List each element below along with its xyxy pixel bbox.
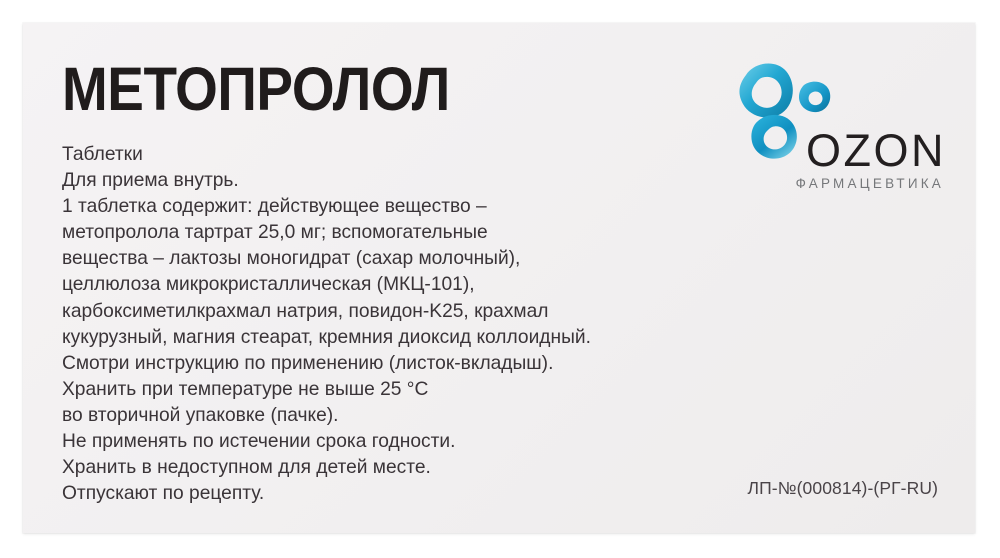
description-line: Хранить в недоступном для детей месте.	[62, 455, 742, 481]
description-line: кукурузный, магния стеарат, кремния диок…	[62, 325, 742, 351]
description-line: вещества – лактозы моногидрат (сахар мол…	[62, 246, 742, 272]
description-line: Хранить при температуре не выше 25 °C	[62, 377, 742, 403]
description-line: карбоксиметилкрахмал натрия, повидон-K25…	[62, 299, 742, 325]
ozon-logo: OZON ФАРМАЦЕВТИКА	[728, 55, 943, 190]
description-line: целлюлоза микрокристаллическая (МКЦ-101)…	[62, 272, 742, 298]
registration-number: ЛП-№(000814)-(РГ-RU)	[748, 478, 938, 499]
medicine-package-card: МЕТОПРОЛОЛ	[23, 23, 975, 533]
description-line: Таблетки	[62, 142, 742, 168]
description-line: Смотри инструкцию по применению (листок-…	[62, 351, 742, 377]
description-line: во вторичной упаковке (пачке).	[62, 403, 742, 429]
description-line: 1 таблетка содержит: действующее веществ…	[62, 194, 742, 220]
ozon-brand-name: OZON	[766, 129, 946, 173]
description-line: Для приема внутрь.	[62, 168, 742, 194]
description-line: Не применять по истечении срока годности…	[62, 429, 742, 455]
package-description-text: Таблетки Для приема внутрь. 1 таблетка с…	[62, 142, 742, 507]
ozon-wordmark: OZON ФАРМАЦЕВТИКА	[766, 129, 946, 191]
description-line: Отпускают по рецепту.	[62, 481, 742, 507]
description-line: метопролола тартрат 25,0 мг; вспомогател…	[62, 220, 742, 246]
ozon-tagline: ФАРМАЦЕВТИКА	[766, 176, 946, 191]
page-title: МЕТОПРОЛОЛ	[62, 59, 450, 120]
